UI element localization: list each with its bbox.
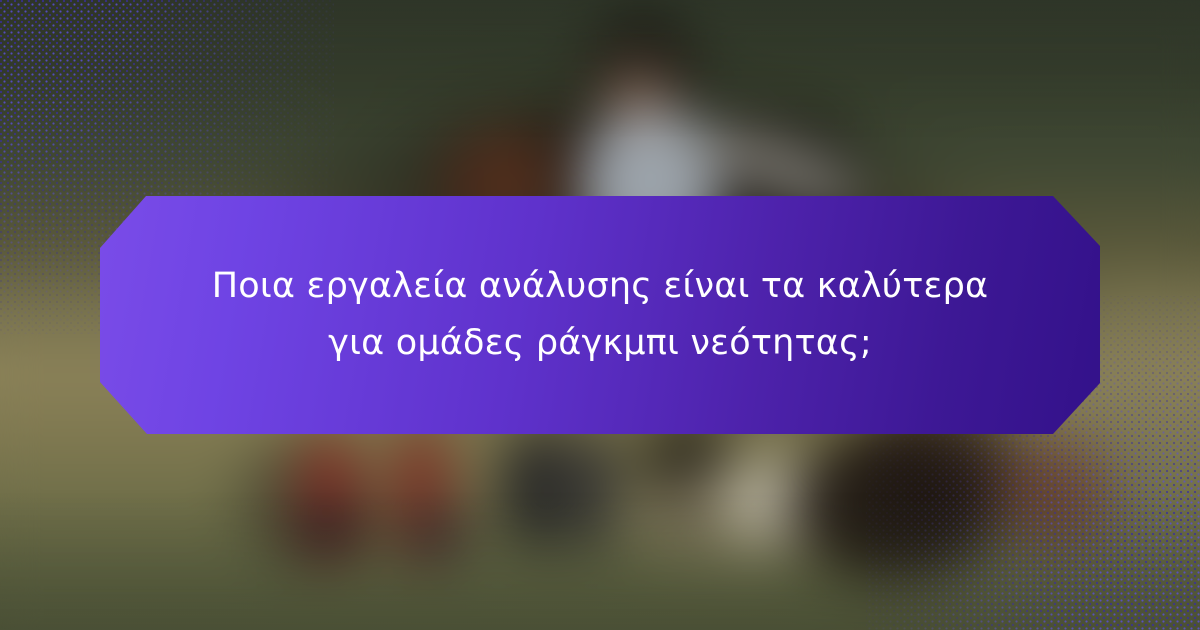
- og-image-card: Ποια εργαλεία ανάλυσης είναι τα καλύτερα…: [0, 0, 1200, 630]
- headline-banner: Ποια εργαλεία ανάλυσης είναι τα καλύτερα…: [100, 196, 1100, 434]
- headline-text: Ποια εργαλεία ανάλυσης είναι τα καλύτερα…: [170, 258, 1030, 371]
